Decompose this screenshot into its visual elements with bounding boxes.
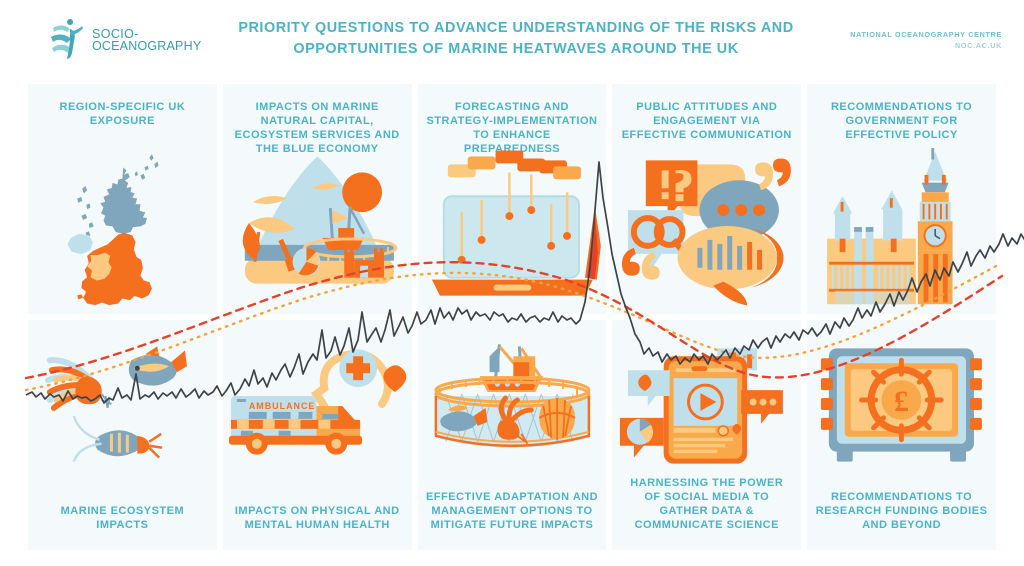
coastal-economy-scene-icon (223, 146, 412, 310)
panel-public-attitudes-engagement[interactable]: PUBLIC ATTITUDES AND ENGAGEMENT VIA EFFE… (612, 84, 801, 314)
panel-label: RECOMMENDATIONS TO RESEARCH FUNDING BODI… (815, 490, 988, 532)
marine-species-icon (28, 324, 217, 478)
socio-oceanography-logo: SOCIO- OCEANOGRAPHY (46, 18, 196, 62)
logo-line-2: OCEANOGRAPHY (92, 40, 201, 53)
panel-label: IMPACTS ON PHYSICAL AND MENTAL HUMAN HEA… (231, 504, 404, 532)
panel-label: PUBLIC ATTITUDES AND ENGAGEMENT VIA EFFE… (620, 100, 793, 142)
aquaculture-pen-icon (418, 324, 607, 478)
panel-region-specific-uk-exposure[interactable]: REGION-SPECIFIC UK EXPOSURE (28, 84, 217, 314)
logo-wordmark: SOCIO- OCEANOGRAPHY (92, 28, 201, 53)
panel-impacts-marine-natural-capital[interactable]: IMPACTS ON MARINE NATURAL CAPITAL, ECOSY… (223, 84, 412, 314)
panel-harnessing-social-media[interactable]: HARNESSING THE POWER OF SOCIAL MEDIA TO … (612, 320, 801, 550)
panel-recommendations-research-funding[interactable]: RECOMMENDATIONS TO RESEARCH FUNDING BODI… (807, 320, 996, 550)
pound-symbol: £ (894, 385, 909, 418)
noc-attribution: NATIONAL OCEANOGRAPHY CENTRE NOC.AC.UK (850, 30, 1002, 52)
laptop-forecast-chart-icon (418, 146, 607, 310)
ambulance-health-icon: AMBULANCE (223, 324, 412, 478)
speech-bubbles-icon (612, 146, 801, 310)
panel-marine-ecosystem-impacts[interactable]: MARINE ECOSYSTEM IMPACTS (28, 320, 217, 550)
page-title: PRIORITY QUESTIONS TO ADVANCE UNDERSTAND… (196, 18, 836, 60)
smartphone-social-icon (612, 324, 801, 478)
panel-recommendations-to-government[interactable]: RECOMMENDATIONS TO GOVERNMENT FOR EFFECT… (807, 84, 996, 314)
header: SOCIO- OCEANOGRAPHY PRIORITY QUESTIONS T… (0, 0, 1024, 78)
big-ben-parliament-icon (807, 146, 996, 310)
ambulance-text: AMBULANCE (249, 401, 316, 411)
uk-map-icon (28, 146, 217, 310)
panel-impacts-physical-mental-health[interactable]: IMPACTS ON PHYSICAL AND MENTAL HUMAN HEA… (223, 320, 412, 550)
infographic-page: SOCIO- OCEANOGRAPHY PRIORITY QUESTIONS T… (0, 0, 1024, 566)
panel-label: RECOMMENDATIONS TO GOVERNMENT FOR EFFECT… (815, 100, 988, 142)
panel-label: REGION-SPECIFIC UK EXPOSURE (36, 100, 209, 128)
panel-label: HARNESSING THE POWER OF SOCIAL MEDIA TO … (620, 476, 793, 532)
priority-questions-grid: REGION-SPECIFIC UK EXPOSURE (28, 84, 996, 550)
noc-line-1: NATIONAL OCEANOGRAPHY CENTRE (850, 30, 1002, 41)
panel-label: MARINE ECOSYSTEM IMPACTS (36, 504, 209, 532)
noc-line-2: NOC.AC.UK (850, 41, 1002, 52)
panel-label: EFFECTIVE ADAPTATION AND MANAGEMENT OPTI… (426, 490, 599, 532)
socio-oceanography-diver-logo-icon (46, 19, 86, 61)
safe-vault-pound-icon: £ (807, 324, 996, 478)
panel-forecasting-strategy[interactable]: FORECASTING AND STRATEGY-IMPLEMENTATION … (418, 84, 607, 314)
panel-effective-adaptation-management[interactable]: EFFECTIVE ADAPTATION AND MANAGEMENT OPTI… (418, 320, 607, 550)
